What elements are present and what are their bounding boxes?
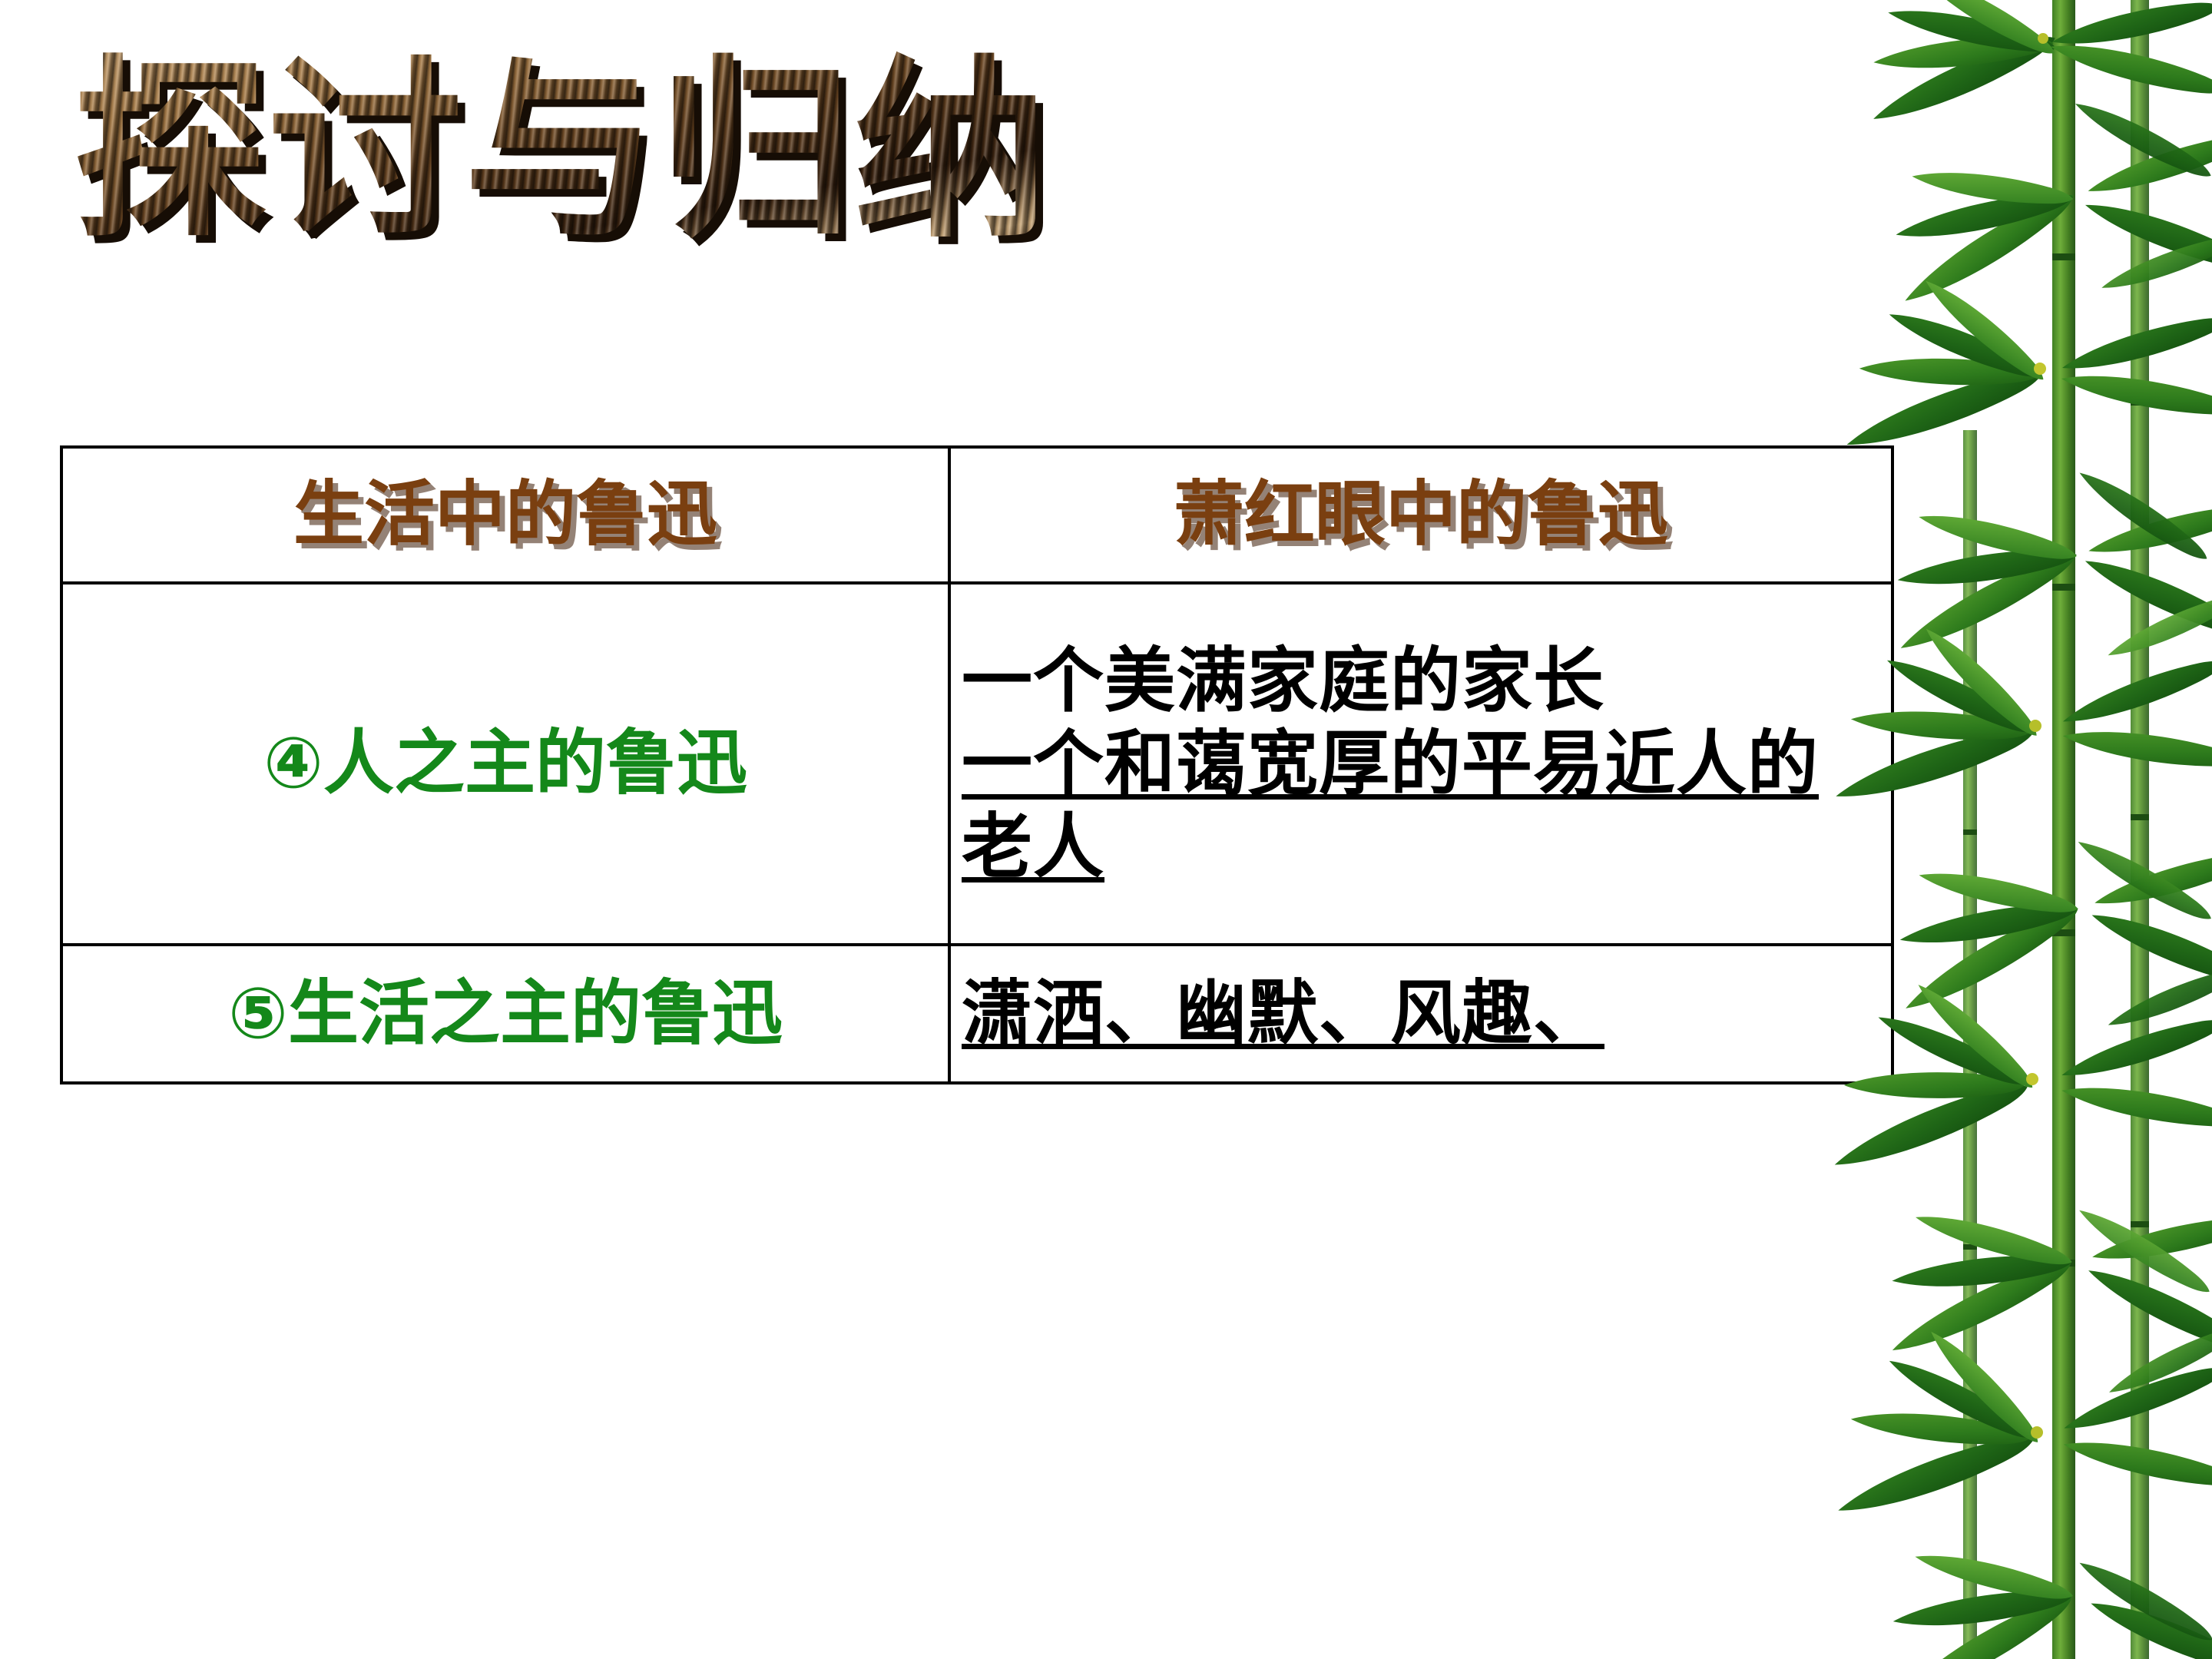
table-header-cell-right: 萧红眼中的鲁迅 <box>949 447 1892 583</box>
table-row: ⑤生活之主的鲁迅 潇洒、幽默、风趣、 <box>61 945 1892 1083</box>
column-header-xiaohong: 萧红眼中的鲁迅 <box>962 478 1880 552</box>
comparison-table: 生活中的鲁迅 萧红眼中的鲁迅 ④人之主的鲁迅 一个美满家庭的家长 一个和蔼宽厚的… <box>60 445 1894 1084</box>
row-4-line-2: 一个和蔼宽厚的平易近人的老人 <box>962 723 1819 888</box>
table-row: ④人之主的鲁迅 一个美满家庭的家长 一个和蔼宽厚的平易近人的老人 <box>61 583 1892 945</box>
column-header-life: 生活中的鲁迅 <box>74 478 937 552</box>
row-5-label: ⑤生活之主的鲁迅 <box>74 977 937 1051</box>
page-title: 探讨与归纳 探讨与归纳 <box>74 37 980 290</box>
row-5-line-1: 潇洒、幽默、风趣、 <box>962 972 1604 1055</box>
row-4-right-cell: 一个美满家庭的家长 一个和蔼宽厚的平易近人的老人 <box>949 583 1892 945</box>
page-title-text: 探讨与归纳 <box>74 37 1049 267</box>
slide-canvas: 探讨与归纳 探讨与归纳 生活中的鲁迅 萧红眼中的鲁迅 ④人之主的鲁迅 <box>0 0 2212 1659</box>
row-4-line-1: 一个美满家庭的家长 <box>962 640 1880 723</box>
row-5-left-cell: ⑤生活之主的鲁迅 <box>61 945 949 1083</box>
row-4-left-cell: ④人之主的鲁迅 <box>61 583 949 945</box>
row-4-label: ④人之主的鲁迅 <box>74 727 937 801</box>
row-5-line-1-wrap: 潇洒、幽默、风趣、 <box>962 972 1880 1055</box>
table-header-row: 生活中的鲁迅 萧红眼中的鲁迅 <box>61 447 1892 583</box>
table-header-cell-left: 生活中的鲁迅 <box>61 447 949 583</box>
row-4-line-2-wrap: 一个和蔼宽厚的平易近人的老人 <box>962 723 1880 889</box>
row-5-right-cell: 潇洒、幽默、风趣、 <box>949 945 1892 1083</box>
